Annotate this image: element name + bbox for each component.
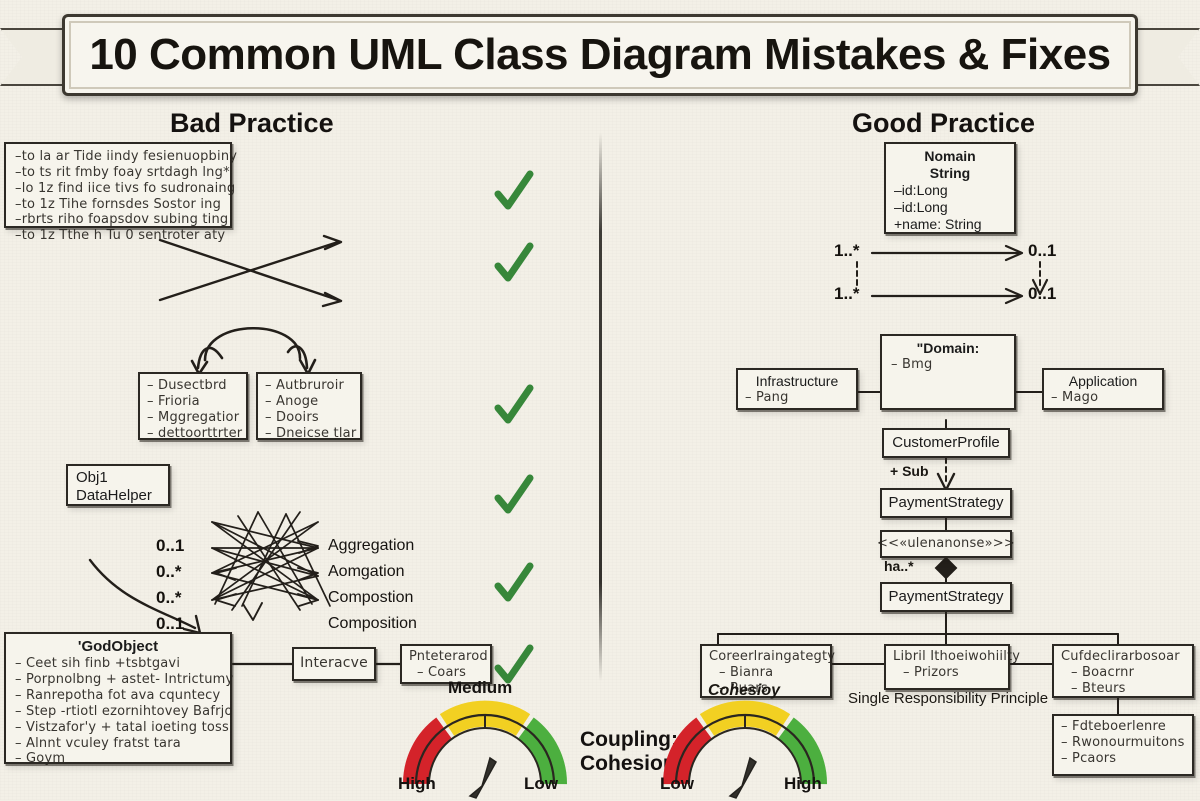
checkmark-icon bbox=[490, 472, 536, 518]
column-header-bad: Bad Practice bbox=[170, 108, 334, 139]
relationship-label: Compostion bbox=[328, 589, 413, 607]
class-title: PaymentStrategy bbox=[888, 494, 1003, 512]
multiplicity-target: 0..1 bbox=[1028, 284, 1056, 304]
multiplicity-source: 1..* bbox=[834, 241, 860, 261]
column-divider bbox=[599, 133, 602, 681]
scribble-line: –to 1z Tihe fornsdes Sostor ing bbox=[15, 197, 221, 213]
attr-line: – Pcaors bbox=[1061, 751, 1185, 767]
relationship-label: Aomgation bbox=[328, 563, 405, 581]
god-object-box: 'GodObject – Ceet sih finb +tsbtgavi – P… bbox=[4, 632, 232, 764]
checkmark-icon bbox=[490, 560, 536, 606]
srp-box-3: Cufdeclirarbosoar – Boacrnr – Bteurs bbox=[1052, 644, 1194, 698]
class-title: Pnteterarod bbox=[409, 649, 483, 665]
association-label: + Sub bbox=[890, 463, 929, 479]
gauge-label-high: High bbox=[784, 774, 822, 794]
god-object-title: 'GodObject bbox=[15, 638, 221, 656]
illegible-requirements-box: –to la ar Tide iindy fesienuopbiny –to t… bbox=[4, 142, 232, 228]
interface-label: Interacve bbox=[300, 655, 368, 672]
gauge-title: Cohesioy bbox=[708, 682, 780, 700]
payment-strategy-box: PaymentStrategy bbox=[880, 488, 1012, 518]
web-multiplicity: 0..1 bbox=[156, 614, 184, 634]
web-multiplicity: 0..* bbox=[156, 562, 182, 582]
domain-class-box: Nomain String –id:Long –id:Long +name: S… bbox=[884, 142, 1016, 234]
gauge-label-low-side: High bbox=[398, 774, 436, 794]
attr-line: – Bteurs bbox=[1061, 681, 1185, 697]
title-banner: 10 Common UML Class Diagram Mistakes & F… bbox=[62, 14, 1138, 96]
class-title: CustomerProfile bbox=[892, 434, 1000, 452]
attr-line: – Porpnolbng + astet- Intrictumy bbox=[15, 672, 221, 688]
attr-line: –id:Long bbox=[894, 199, 1006, 216]
attr-line: – Dusectbrd bbox=[147, 378, 239, 394]
scribble-line: –to 1z Tthe h Tu 0 sentroter aty bbox=[15, 228, 221, 244]
class-title: Coreerlraingategty bbox=[709, 649, 823, 665]
srp-box-2: Libril Ithoeiwohiilty – Prizors bbox=[884, 644, 1010, 690]
package-application: Application – Mago bbox=[1042, 368, 1164, 410]
attr-line: – Ranrepotha fot ava cquntecy bbox=[15, 688, 221, 704]
srp-box-4: – Fdteboerlenre – Rwonourmuitons – Pcaor… bbox=[1052, 714, 1194, 776]
package-title: Application bbox=[1051, 373, 1155, 390]
attr-line: – Alnnt vculey fratst tara bbox=[15, 736, 221, 752]
column-header-good: Good Practice bbox=[852, 108, 1035, 139]
attr-line: – Autbruroir bbox=[265, 378, 353, 394]
attr-line: – Bianra bbox=[709, 665, 823, 681]
attr-line: – Vistzafor'y + tatal ioeting toss bbox=[15, 720, 221, 736]
stereotype-label: <<«ulenanonse»>> bbox=[877, 536, 1015, 552]
class-subtitle: String bbox=[894, 165, 1006, 182]
interface-box: Interacve bbox=[292, 647, 376, 681]
gauge-label-low: Low bbox=[660, 774, 694, 794]
package-attr: – Bmg bbox=[891, 357, 1005, 373]
web-multiplicity: 0..* bbox=[156, 588, 182, 608]
customer-profile-box: CustomerProfile bbox=[882, 428, 1010, 458]
attr-line: – dettoorttrter bbox=[147, 426, 239, 442]
web-multiplicity: 0..1 bbox=[156, 536, 184, 556]
package-infrastructure: Infrastructure – Pang bbox=[736, 368, 858, 410]
scribble-line: –to ts rit fmby foay srtdagh lng* bbox=[15, 165, 221, 181]
attr-line: – Fdteboerlenre bbox=[1061, 719, 1185, 735]
package-title: Infrastructure bbox=[745, 373, 849, 390]
srp-caption: Single Responsibility Principle bbox=[848, 690, 1048, 707]
class-title: Nomain bbox=[894, 148, 1006, 165]
attr-line: – Rwonourmuitons bbox=[1061, 735, 1185, 751]
package-title: "Domain: bbox=[891, 340, 1005, 357]
attr-line: – Step -rtiotl ezornihtovey Bafrjo bbox=[15, 704, 221, 720]
data-helper-box: Obj1 DataHelper bbox=[66, 464, 170, 506]
attr-line: – Goym bbox=[15, 751, 221, 767]
attr-line: – Anoge bbox=[265, 394, 353, 410]
scribble-line: –rbrts riho foapsdov subing ting bbox=[15, 212, 221, 228]
package-attr: – Mago bbox=[1051, 390, 1155, 406]
attr-line: – Frioria bbox=[147, 394, 239, 410]
helper-name: DataHelper bbox=[76, 487, 160, 505]
class-title: Libril Ithoeiwohiilty bbox=[893, 649, 1001, 665]
bidirectional-class-right: – Autbruroir – Anoge – Dooirs – Dneicse … bbox=[256, 372, 362, 440]
checkmark-icon bbox=[490, 168, 536, 214]
attr-line: +name: String bbox=[894, 216, 1006, 233]
relationship-label: Aggregation bbox=[328, 537, 414, 555]
attr-line: –id:Long bbox=[894, 182, 1006, 199]
class-title: Cufdeclirarbosoar bbox=[1061, 649, 1185, 665]
checkmark-icon bbox=[490, 240, 536, 286]
gauge-label-medium: Medium bbox=[448, 678, 512, 698]
coupling-gauge: High Medium Low Coupling: Cohesion bbox=[400, 700, 570, 796]
package-attr: – Pang bbox=[745, 390, 849, 406]
bidirectional-class-left: – Dusectbrd – Frioria – Mggregatior – de… bbox=[138, 372, 248, 440]
class-title: PaymentStrategy bbox=[888, 588, 1003, 606]
multiplicity-source: 1..* bbox=[834, 284, 860, 304]
scribble-line: –lo 1z find iice tivs fo sudronaing bbox=[15, 181, 221, 197]
payment-strategy-impl-box: PaymentStrategy bbox=[880, 582, 1012, 612]
multiplicity-target: 0..1 bbox=[1028, 241, 1056, 261]
gauge-label-high-side: Low bbox=[524, 774, 558, 794]
aggregation-label: ha..* bbox=[884, 558, 914, 574]
scribble-line: –to la ar Tide iindy fesienuopbiny bbox=[15, 149, 221, 165]
attr-line: – Dooirs bbox=[265, 410, 353, 426]
attr-line: – Ceet sih finb +tsbtgavi bbox=[15, 656, 221, 672]
attr-line: – Prizors bbox=[893, 665, 1001, 681]
package-domain: "Domain: – Bmg bbox=[880, 334, 1016, 410]
attr-line: – Mggregatior bbox=[147, 410, 239, 426]
interface-stereotype-box: <<«ulenanonse»>> bbox=[880, 530, 1012, 558]
sketch-canvas: 10 Common UML Class Diagram Mistakes & F… bbox=[0, 0, 1200, 800]
obj-name: Obj1 bbox=[76, 469, 160, 487]
attr-line: – Dneicse tlar bbox=[265, 426, 353, 442]
attr-line: – Boacrnr bbox=[1061, 665, 1185, 681]
cohesion-gauge: Low High Cohesioy bbox=[660, 700, 830, 796]
page-title: 10 Common UML Class Diagram Mistakes & F… bbox=[62, 14, 1138, 96]
relationship-label: Composition bbox=[328, 615, 417, 633]
checkmark-icon bbox=[490, 382, 536, 428]
